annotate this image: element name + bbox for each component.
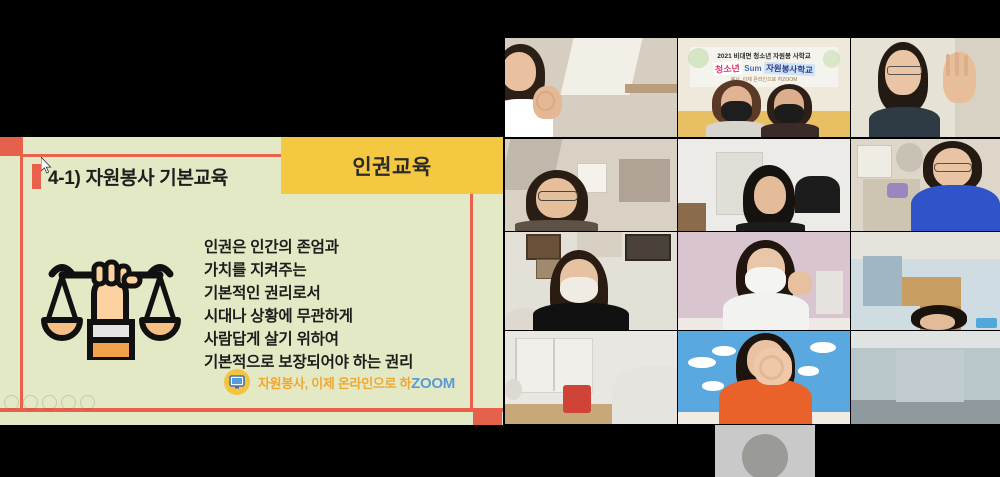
presentation-controls-toolbar[interactable]	[4, 395, 95, 410]
banner-word-pink: 청소년	[713, 61, 743, 76]
next-slide-icon[interactable]	[23, 395, 38, 410]
slide-rule-top	[21, 154, 281, 157]
banner-line-1: 2021 비대면 청소년 자원봉 사학교	[717, 50, 810, 60]
more-options-icon[interactable]	[80, 395, 95, 410]
body-line: 시대나 상황에 무관하게	[204, 306, 413, 327]
mouse-pointer-icon	[41, 157, 52, 174]
slide-corner-top-left	[0, 137, 22, 156]
participant-tile-camera-off[interactable]	[715, 425, 815, 477]
slide-subtitle: 4-1) 자원봉사 기본교육	[32, 163, 228, 190]
event-banner: 2021 비대면 청소년 자원봉 사학교 청소년 Sum 자원봉사학교 봉사, …	[690, 47, 838, 87]
participant-tile[interactable]	[678, 232, 850, 330]
slide-body-text: 인권은 인간의 존엄과 가치를 지켜주는 기본적인 권리로서 시대나 상황에 무…	[204, 237, 413, 375]
face-mask	[745, 267, 786, 294]
slide-footer: 자원봉사, 이제 온라인으로 하ZOOM	[224, 369, 455, 395]
participant-tile[interactable]	[505, 38, 677, 137]
banner-word-blue: Sum	[744, 64, 761, 73]
participant-tile[interactable]	[678, 331, 850, 424]
subtitle-tick-marker	[32, 164, 41, 189]
body-line: 인권은 인간의 존엄과	[204, 237, 413, 258]
participant-tile[interactable]: 2021 비대면 청소년 자원봉 사학교 청소년 Sum 자원봉사학교 봉사, …	[678, 38, 850, 137]
justice-scales-fist-icon	[38, 250, 184, 360]
participant-tile[interactable]	[505, 232, 677, 330]
slide-rule-left	[20, 137, 23, 409]
participant-tile[interactable]	[505, 331, 677, 424]
zoom-meeting-window: 인권교육 4-1) 자원봉사 기본교육	[0, 0, 1000, 477]
participant-tile[interactable]	[505, 139, 677, 231]
slide-footer-text: 자원봉사, 이제 온라인으로 하ZOOM	[258, 373, 455, 392]
shared-screen-region[interactable]: 인권교육 4-1) 자원봉사 기본교육	[0, 0, 504, 477]
footer-brand-zoom: ZOOM	[411, 375, 455, 392]
body-line: 가치를 지켜주는	[204, 260, 413, 281]
participant-tile[interactable]	[851, 331, 1000, 424]
participant-video-grid: 2021 비대면 청소년 자원봉 사학교 청소년 Sum 자원봉사학교 봉사, …	[505, 0, 1000, 477]
slide-title-badge: 인권교육	[281, 137, 503, 194]
body-line: 기본적인 권리로서	[204, 283, 413, 304]
monitor-icon	[224, 369, 250, 395]
banner-word-navy: 자원봉사학교	[763, 61, 814, 76]
zoom-tool-icon[interactable]	[61, 395, 76, 410]
participant-tile[interactable]	[851, 232, 1000, 330]
avatar-placeholder-icon	[742, 434, 788, 477]
slide-subtitle-label: 4-1) 자원봉사 기본교육	[48, 163, 228, 190]
pen-tool-icon[interactable]	[42, 395, 57, 410]
participant-tile[interactable]	[851, 38, 1000, 137]
footer-text-prefix: 자원봉사, 이제 온라인으로 하	[258, 376, 411, 391]
body-line: 사람답게 살기 위하여	[204, 329, 413, 350]
participant-tile[interactable]	[851, 139, 1000, 231]
previous-slide-icon[interactable]	[4, 395, 19, 410]
participant-tile[interactable]	[678, 139, 850, 231]
slide-title-label: 인권교육	[352, 151, 431, 181]
face-mask	[560, 277, 598, 302]
presentation-slide[interactable]: 인권교육 4-1) 자원봉사 기본교육	[0, 137, 503, 425]
